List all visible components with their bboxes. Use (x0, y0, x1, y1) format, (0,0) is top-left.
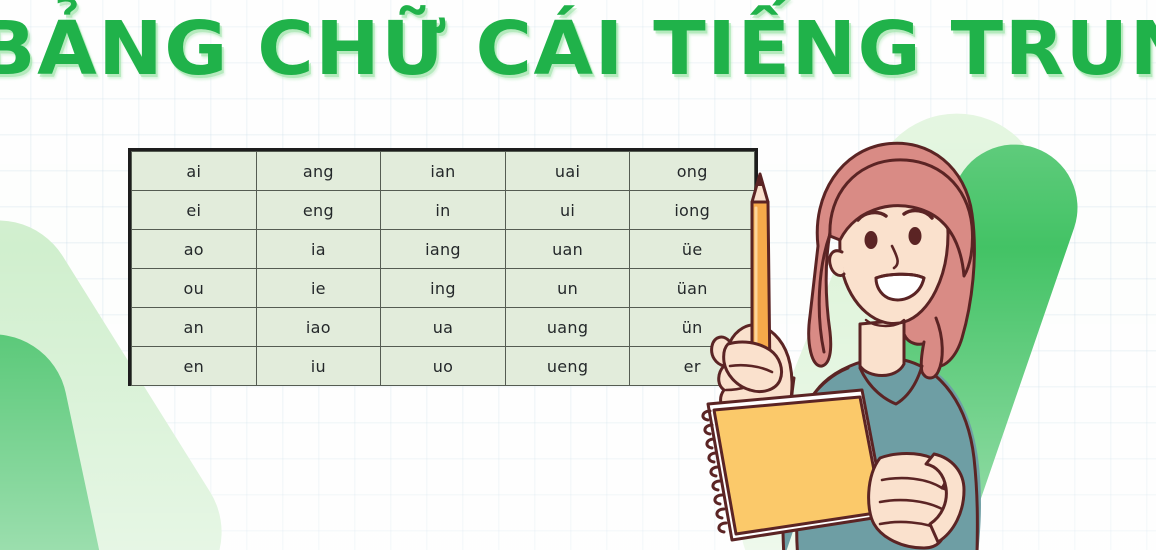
pinyin-cell: in (381, 191, 506, 230)
page-canvas: BẢNG CHỮ CÁI TIẾNG TRUNG aiangianuaionge… (0, 0, 1156, 550)
pinyin-cell: ou (132, 269, 257, 308)
table-row: eniuuouenger (132, 347, 755, 386)
table-row: aiangianuaiong (132, 152, 755, 191)
pinyin-cell: en (132, 347, 257, 386)
pinyin-cell: ai (132, 152, 257, 191)
pinyin-cell: an (132, 308, 257, 347)
pinyin-cell: ie (256, 269, 381, 308)
pinyin-cell: un (505, 269, 630, 308)
pinyin-cell: iao (256, 308, 381, 347)
pinyin-cell: uo (381, 347, 506, 386)
pinyin-cell: eng (256, 191, 381, 230)
pinyin-cell: ei (132, 191, 257, 230)
pinyin-cell: ian (381, 152, 506, 191)
pinyin-cell: ia (256, 230, 381, 269)
page-title: BẢNG CHỮ CÁI TIẾNG TRUNG (0, 6, 1156, 92)
pinyin-cell: ui (505, 191, 630, 230)
teacher-illustration (690, 128, 1020, 550)
pinyin-cell: ua (381, 308, 506, 347)
pinyin-cell: uai (505, 152, 630, 191)
pinyin-cell: ing (381, 269, 506, 308)
table-row: eienginuiiong (132, 191, 755, 230)
pinyin-cell: uang (505, 308, 630, 347)
pinyin-cell: ang (256, 152, 381, 191)
pinyin-cell: iu (256, 347, 381, 386)
pinyin-table-grid: aiangianuaiongeienginuiiongaoiaianguanüe… (131, 151, 755, 386)
pinyin-cell: iang (381, 230, 506, 269)
pinyin-cell: ao (132, 230, 257, 269)
pinyin-finals-table: aiangianuaiongeienginuiiongaoiaianguanüe… (128, 148, 758, 386)
pinyin-cell: uan (505, 230, 630, 269)
table-row: ouieingunüan (132, 269, 755, 308)
table-row: aniaouauangün (132, 308, 755, 347)
table-row: aoiaianguanüe (132, 230, 755, 269)
pinyin-cell: ueng (505, 347, 630, 386)
